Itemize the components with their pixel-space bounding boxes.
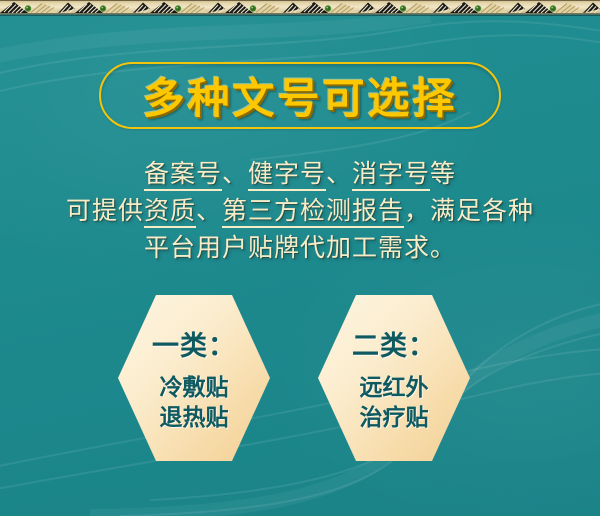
hexagon-heading: 二类： [352, 324, 436, 363]
hexagon-items: 远红外治疗贴 [360, 373, 429, 433]
plain-text: ，满足各种 [404, 198, 534, 225]
plain-text: 等 [430, 161, 456, 188]
description-paragraph: 备案号、健字号、消字号等 可提供资质、第三方检测报告，满足各种 平台用户贴牌代加… [0, 156, 600, 267]
border-top-rule [0, 0, 600, 1]
hexagon-items: 冷敷贴退热贴 [160, 373, 229, 433]
description-line: 备案号、健字号、消字号等 [0, 156, 600, 193]
ornate-top-border [0, 0, 600, 15]
plain-text: 、 [222, 161, 248, 188]
hexagon-item: 远红外 [360, 373, 429, 403]
emphasised-term: 资质 [144, 198, 196, 228]
emphasised-term: 消字号 [352, 161, 430, 191]
border-bottom-rule [0, 13, 600, 15]
hexagon-item: 冷敷贴 [160, 373, 229, 403]
hexagon-item: 退热贴 [160, 403, 229, 433]
emphasised-term: 第三方检测报告 [222, 198, 404, 228]
description-line: 可提供资质、第三方检测报告，满足各种 [0, 193, 600, 230]
plain-text: 可提供 [66, 198, 144, 225]
page-title: 多种文号可选择 [99, 62, 501, 129]
emphasised-term: 备案号 [144, 161, 222, 191]
hexagon-item: 治疗贴 [360, 403, 429, 433]
description-line: 平台用户贴牌代加工需求。 [0, 230, 600, 267]
plain-text: 平台用户贴牌代加工需求。 [144, 235, 456, 262]
promo-poster: 多种文号可选择 备案号、健字号、消字号等 可提供资质、第三方检测报告，满足各种 … [0, 0, 600, 516]
hexagon-heading: 一类： [152, 324, 236, 363]
plain-text: 、 [196, 198, 222, 225]
emphasised-term: 健字号 [248, 161, 326, 191]
plain-text: 、 [326, 161, 352, 188]
